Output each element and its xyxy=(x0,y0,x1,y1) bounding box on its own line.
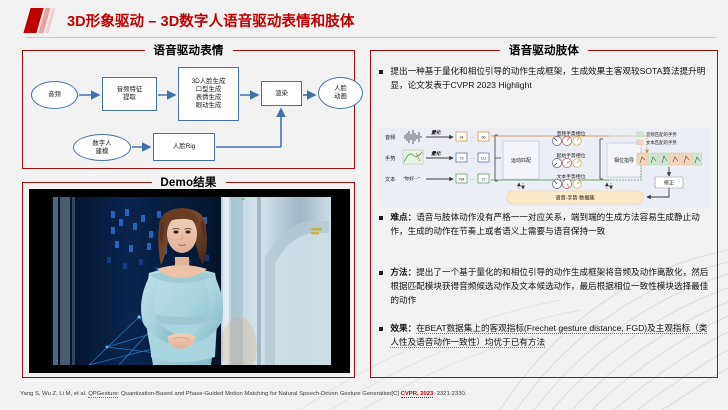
bullet-results-lead: 效果： xyxy=(390,323,416,333)
svg-text:音频: 音频 xyxy=(385,133,396,141)
panel-caption-demo: Demo结果 xyxy=(151,174,225,190)
bullet-square-icon xyxy=(379,70,383,74)
expression-pipeline-diagram: 音频 音频特征提取 3D人脸生成口型生成表情生成眼动生成 渲染 人脸动画 数字人… xyxy=(23,51,354,168)
svg-text:运动匹配: 运动匹配 xyxy=(511,157,531,164)
demo-video-frame xyxy=(29,197,350,365)
slide-header: 3D形象驱动 – 3D数字人语音驱动表情和肢体 xyxy=(0,4,728,36)
bullet-method: 方法：提出了一个基于量化的和相位引导的动作生成框架将音频及动作离散化，然后根据匹… xyxy=(379,266,709,308)
bullet-results: 效果：在BEAT数据集上的客观指标(Frechet gesture distan… xyxy=(379,322,709,350)
bullet-square-icon xyxy=(379,271,383,275)
svg-text:"你好···": "你好···" xyxy=(403,175,420,182)
svg-text:文本手势相位: 文本手势相位 xyxy=(557,173,586,180)
svg-text:修正: 修正 xyxy=(664,180,674,187)
flow-node-audio-label: 音频 xyxy=(48,91,61,99)
title-accent-mark xyxy=(25,8,59,33)
svg-text:相位指导: 相位指导 xyxy=(614,157,634,164)
bullet-challenge-lead: 难点： xyxy=(390,212,416,222)
flow-node-audio: 音频 xyxy=(31,81,78,109)
svg-text:27: 27 xyxy=(482,178,486,182)
svg-text:音频手势相位: 音频手势相位 xyxy=(557,130,586,137)
flow-node-audio-feature-extraction: 音频特征提取 xyxy=(102,77,157,111)
header-divider xyxy=(26,37,716,38)
citation-title: : Quantization-Based and Phase-Guided Mo… xyxy=(118,391,401,397)
page-title: 3D形象驱动 – 3D数字人语音驱动表情和肢体 xyxy=(67,10,355,31)
bullet-overview: 提出一种基于量化和相位引导的动作生成框架，生成效果主客观较SOTA算法提升明显，… xyxy=(379,65,709,93)
bullet-square-icon xyxy=(379,327,383,331)
svg-text:111: 111 xyxy=(481,157,486,161)
svg-text:量化: 量化 xyxy=(431,150,442,157)
flow-node-render: 渲染 xyxy=(261,81,302,106)
flow-node-3d-face-generation: 3D人脸生成口型生成表情生成眼动生成 xyxy=(178,67,239,121)
flow-node-face-rig: 人脸Rig xyxy=(153,133,215,161)
svg-text:量化: 量化 xyxy=(431,129,442,136)
svg-text:语音-手势 数据集: 语音-手势 数据集 xyxy=(555,194,595,202)
citation-authors: Yang S, Wu Z, Li M, et al. xyxy=(20,391,88,397)
svg-text:起始手势相位: 起始手势相位 xyxy=(557,152,586,159)
bullet-method-text: 提出了一个基于量化的和相位引导的动作生成框架将音频及动作离散化，然后根据匹配模块… xyxy=(390,267,708,305)
bullet-method-lead: 方法： xyxy=(390,267,416,277)
svg-text:···: ··· xyxy=(470,177,474,182)
panel-speech-driven-gesture: 语音驱动肢体 提出一种基于量化和相位引导的动作生成框架，生成效果主客观较SOTA… xyxy=(370,50,718,378)
demo-video-thumbnail[interactable] xyxy=(29,189,350,373)
svg-text:···: ··· xyxy=(470,156,474,161)
bullet-square-icon xyxy=(379,216,383,220)
svg-text:784: 784 xyxy=(459,178,465,182)
qpgesture-pipeline-figure: 音频 手势 文本 "你好· xyxy=(379,127,711,207)
flow-node-face-animation: 人脸动画 xyxy=(318,77,363,109)
svg-text:···: ··· xyxy=(470,135,474,140)
bullet-results-text: 在BEAT数据集上的客观指标(Frechet gesture distance,… xyxy=(390,323,707,348)
citation-footer: Yang S, Wu Z, Li M, et al. QPGesture: Qu… xyxy=(20,391,720,399)
panel-speech-driven-expression: 语音驱动表情 音频 音频特征提取 3D人 xyxy=(22,50,355,169)
bullet-challenge-text: 语音与肢体动作没有严格一一对应关系，端到端的生成方法容易生成静止动作，生成的动作… xyxy=(390,212,699,236)
citation-venue: CVPR, 2023 xyxy=(401,391,434,398)
citation-paper-name: QPGesture xyxy=(88,391,117,398)
svg-text:34: 34 xyxy=(460,136,464,140)
svg-text:73: 73 xyxy=(460,157,464,161)
citation-pages: : 2321-2330. xyxy=(433,391,466,397)
panel-demo-results: Demo结果 xyxy=(22,182,355,378)
svg-text:文本匹配的手势: 文本匹配的手势 xyxy=(646,139,677,146)
svg-text:96: 96 xyxy=(482,136,486,140)
svg-text:文本: 文本 xyxy=(385,175,395,183)
bullet-challenge: 难点：语音与肢体动作没有严格一一对应关系，端到端的生成方法容易生成静止动作，生成… xyxy=(379,211,709,239)
svg-text:手势: 手势 xyxy=(385,154,395,162)
svg-text:音频匹配的手势: 音频匹配的手势 xyxy=(646,131,677,138)
flow-node-digital-human-modeling: 数字人建模 xyxy=(73,134,131,161)
bullet-overview-text: 提出一种基于量化和相位引导的动作生成框架，生成效果主客观较SOTA算法提升明显，… xyxy=(390,66,705,90)
